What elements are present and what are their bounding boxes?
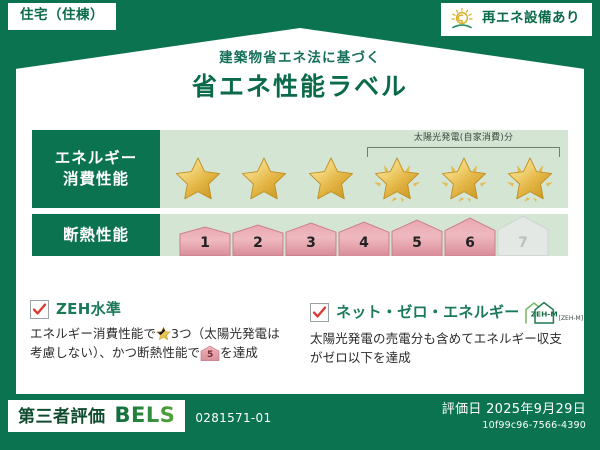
- bels-word: BELS: [115, 405, 176, 426]
- energy-performance-label: 住宅（住棟） 再エネ設備あり 建築物省エネ法に基づく 省エネ性能ラベル: [0, 0, 600, 450]
- star-glyph-solar: [436, 152, 492, 206]
- grade-value: 1: [179, 236, 231, 250]
- zeh-checkbox[interactable]: [30, 300, 49, 319]
- insulation-grade-5: 5: [391, 219, 443, 256]
- zeh-description: エネルギー消費性能で 3つ（太陽光発電は考慮しない）、かつ断熱性能で: [30, 324, 290, 363]
- check-icon: [312, 305, 327, 320]
- footer-bar: 第三者評価 BELS 0281571-01 評価日 2025年9月29日 10f…: [0, 394, 600, 450]
- bels-box: 第三者評価 BELS 0281571-01: [8, 400, 185, 432]
- grade-value: 4: [338, 236, 390, 250]
- criteria-section: ZEH水準 エネルギー消費性能で 3つ（太陽光発電は考慮しない）、かつ断熱性能で: [30, 300, 570, 368]
- criterion-net-zero-energy: ネット・ゼロ・エネルギー ZEH-M [ZEH-M] 太陽光発電の売電分も含めて…: [310, 300, 570, 368]
- star-icon: [170, 152, 226, 206]
- zeh-desc-part3: を達成: [220, 345, 258, 360]
- zeh-m-logo: ZEH-M [ZEH-M]: [523, 300, 583, 324]
- star-icon-solar: [369, 152, 425, 206]
- insulation-grade-6: 6: [444, 217, 496, 256]
- sun-solar-icon: [449, 7, 475, 31]
- label-title: 省エネ性能ラベル: [0, 74, 600, 99]
- label-subtitle: 建築物省エネ法に基づく: [0, 52, 600, 66]
- grade-value: 6: [444, 236, 496, 250]
- third-party-label: 第三者評価: [18, 409, 106, 426]
- star-icon: [303, 152, 359, 206]
- nze-checkbox[interactable]: [310, 303, 329, 322]
- energy-row-body: 太陽光発電(自家消費)分: [160, 130, 568, 208]
- energy-row-label-line2: 消費性能: [55, 169, 138, 190]
- insulation-performance-row: 断熱性能 1234567: [32, 214, 568, 256]
- star-rating: [166, 151, 562, 207]
- grade-value: 5: [391, 236, 443, 250]
- star-glyph: [303, 152, 359, 206]
- title-block: 建築物省エネ法に基づく 省エネ性能ラベル: [0, 52, 600, 99]
- energy-row-label: エネルギー 消費性能: [32, 130, 160, 208]
- energy-row-label-line1: エネルギー: [55, 148, 138, 169]
- star-icon: [236, 152, 292, 206]
- insulation-grade-4: 4: [338, 221, 390, 256]
- insulation-row-label: 断熱性能: [32, 214, 160, 256]
- svg-text:ZEH-M: ZEH-M: [530, 310, 556, 319]
- star-icon-inline: [156, 326, 171, 341]
- nze-title: ネット・ゼロ・エネルギー: [336, 305, 520, 320]
- performance-rows: エネルギー 消費性能 太陽光発電(自家消費)分 断熱性能 1234567: [32, 130, 568, 262]
- renewable-badge-label: 再エネ設備あり: [482, 12, 580, 26]
- criterion-zeh-header: ZEH水準: [30, 300, 290, 319]
- criterion-nze-header: ネット・ゼロ・エネルギー ZEH-M [ZEH-M]: [310, 300, 570, 324]
- star-icon-solar: [502, 152, 558, 206]
- solar-bracket-caption: 太陽光発電(自家消費)分: [367, 134, 560, 143]
- insulation-row-body: 1234567: [160, 214, 568, 256]
- star-glyph: [236, 152, 292, 206]
- evaluation-id: 10f99c96-7566-4390: [442, 420, 586, 431]
- insulation-grade-scale: 1234567: [168, 214, 560, 256]
- star-icon-solar: [436, 152, 492, 206]
- evaluation-meta: 評価日 2025年9月29日 10f99c96-7566-4390: [442, 402, 586, 431]
- renewable-equipment-badge: 再エネ設備あり: [441, 3, 592, 36]
- check-icon: [32, 302, 47, 317]
- grade-value: 3: [285, 236, 337, 250]
- zeh-m-logo-caption: [ZEH-M]: [559, 316, 583, 324]
- star-glyph-solar: [502, 152, 558, 206]
- zeh-m-house-icon: ZEH-M: [523, 300, 557, 324]
- zeh-desc-part1: エネルギー消費性能で: [30, 326, 156, 341]
- evaluation-date: 評価日 2025年9月29日: [442, 402, 586, 418]
- star-glyph: [170, 152, 226, 206]
- energy-performance-row: エネルギー 消費性能 太陽光発電(自家消費)分: [32, 130, 568, 208]
- insulation-grade-3: 3: [285, 222, 337, 256]
- nze-description: 太陽光発電の売電分も含めてエネルギー収支がゼロ以下を達成: [310, 329, 570, 368]
- insulation-grade-7: 7: [497, 215, 549, 256]
- grade-badge-inline-value: 5: [200, 351, 220, 360]
- grade-badge-inline: 5: [200, 345, 220, 361]
- criterion-zeh-standard: ZEH水準 エネルギー消費性能で 3つ（太陽光発電は考慮しない）、かつ断熱性能で: [30, 300, 290, 368]
- bels-number: 0281571-01: [195, 412, 271, 424]
- insulation-grade-2: 2: [232, 224, 284, 256]
- grade-value: 7: [497, 236, 549, 250]
- insulation-grade-1: 1: [179, 226, 231, 256]
- zeh-title: ZEH水準: [56, 302, 121, 317]
- star-glyph-solar: [369, 152, 425, 206]
- grade-value: 2: [232, 236, 284, 250]
- house-type-tab: 住宅（住棟）: [8, 3, 116, 30]
